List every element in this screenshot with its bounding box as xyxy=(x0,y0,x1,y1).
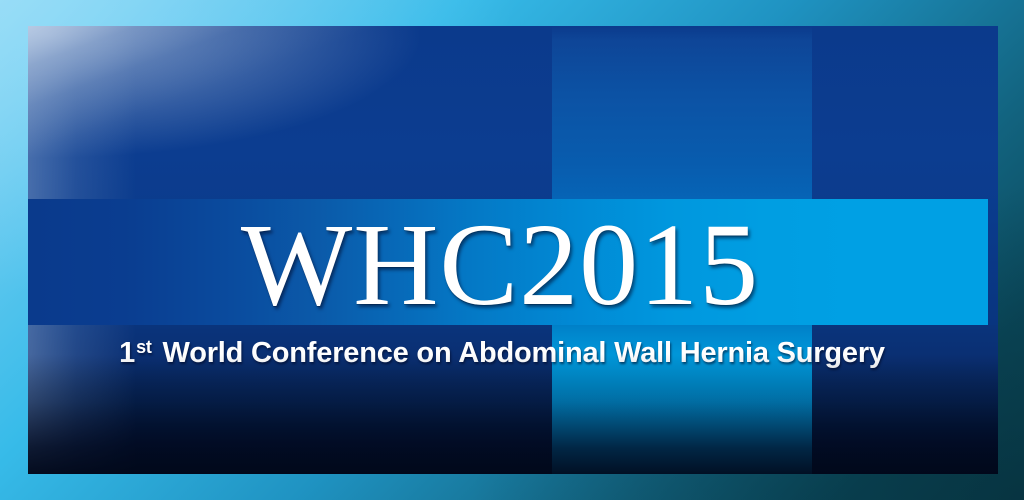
vertical-accent-band-upper xyxy=(552,26,812,199)
conference-banner: WHC2015 1st World Conference on Abdomina… xyxy=(0,0,1024,500)
subtitle-number: 1 xyxy=(119,337,135,369)
subtitle-ordinal-suffix: st xyxy=(136,337,152,357)
wordmark-title: WHC2015 xyxy=(28,206,998,324)
poster-plate: WHC2015 1st World Conference on Abdomina… xyxy=(28,26,998,474)
subtitle: 1st World Conference on Abdominal Wall H… xyxy=(28,330,998,370)
subtitle-text: World Conference on Abdominal Wall Herni… xyxy=(155,337,885,369)
